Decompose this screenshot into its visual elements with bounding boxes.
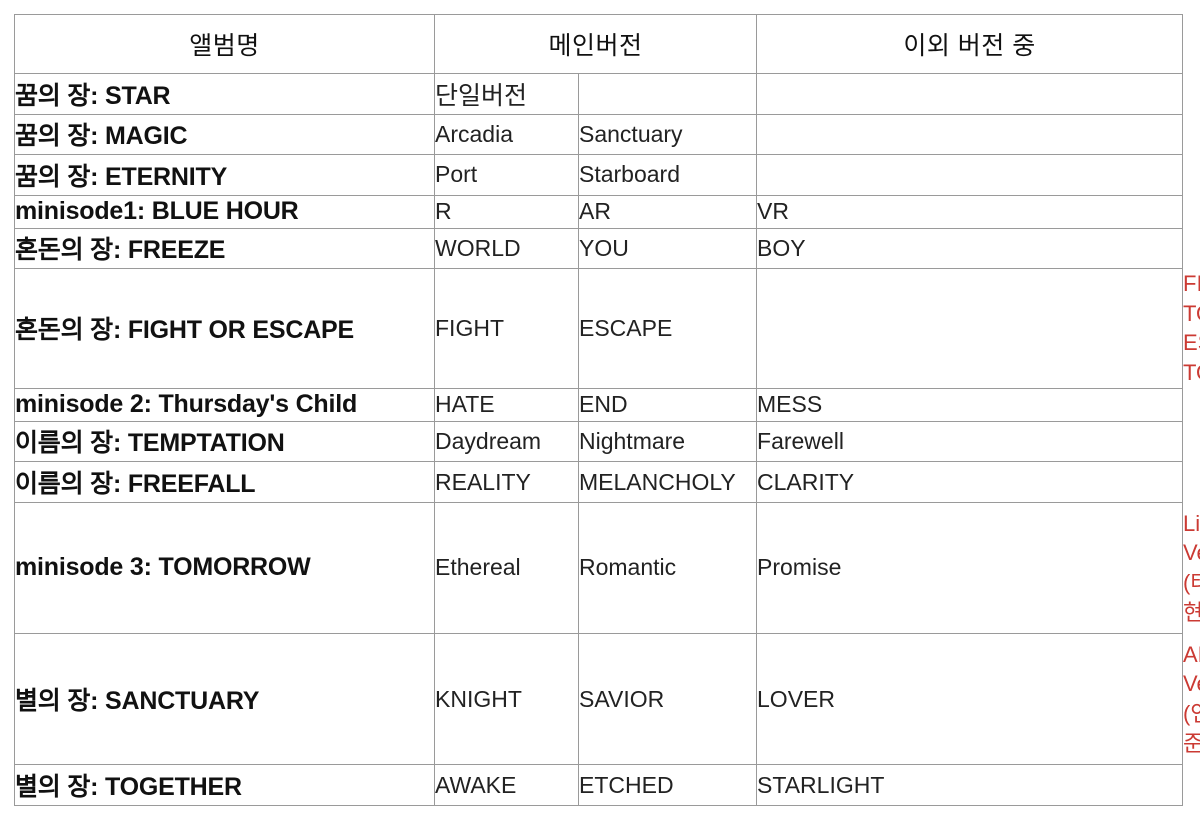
cell-album-name: 이름의 장: FREEFALL xyxy=(15,462,435,503)
cell-main-version-2: END xyxy=(579,388,757,421)
table-body: 꿈의 장: STAR단일버전꿈의 장: MAGICArcadiaSanctuar… xyxy=(15,74,1183,806)
cell-album-name: 이름의 장: TEMPTATION xyxy=(15,421,435,462)
cell-main-version-2 xyxy=(579,74,757,115)
table-row: minisode 2: Thursday's ChildHATEENDMESS xyxy=(15,388,1183,421)
cell-main-version-3 xyxy=(757,269,1183,389)
cell-main-version-2: YOU xyxy=(579,228,757,269)
cell-main-version-3: CLARITY xyxy=(757,462,1183,503)
table-header: 앨범명 메인버전 이외 버전 중 xyxy=(15,15,1183,74)
spreadsheet-container: 앨범명 메인버전 이외 버전 중 꿈의 장: STAR단일버전꿈의 장: MAG… xyxy=(14,14,1182,806)
table-row: minisode 3: TOMORROWEtherealRomanticProm… xyxy=(15,502,1183,633)
table-row: 이름의 장: FREEFALLREALITYMELANCHOLYCLARITY xyxy=(15,462,1183,503)
cell-album-name: 혼돈의 장: FIGHT OR ESCAPE xyxy=(15,269,435,389)
cell-main-version-1: HATE xyxy=(435,388,579,421)
cell-album-name: 꿈의 장: STAR xyxy=(15,74,435,115)
cell-main-version-1: KNIGHT xyxy=(435,634,579,765)
cell-main-version-1: 단일버전 xyxy=(435,74,579,115)
cell-album-name: minisode 3: TOMORROW xyxy=(15,502,435,633)
table-row: 혼돈의 장: FREEZEWORLDYOUBOY xyxy=(15,228,1183,269)
cell-main-version-1: Daydream xyxy=(435,421,579,462)
cell-main-version-3 xyxy=(757,114,1183,155)
column-header-other-versions: 이외 버전 중 xyxy=(757,15,1183,74)
table-row: 혼돈의 장: FIGHT OR ESCAPEFIGHTESCAPEFIGHT: … xyxy=(15,269,1183,389)
cell-album-name: 꿈의 장: ETERNITY xyxy=(15,155,435,196)
cell-main-version-3: BOY xyxy=(757,228,1183,269)
cell-main-version-1: WORLD xyxy=(435,228,579,269)
cell-main-version-1: R xyxy=(435,195,579,228)
cell-main-version-1: REALITY xyxy=(435,462,579,503)
cell-main-version-2: Starboard xyxy=(579,155,757,196)
cell-album-name: 꿈의 장: MAGIC xyxy=(15,114,435,155)
cell-main-version-3: MESS xyxy=(757,388,1183,421)
table-row: 이름의 장: TEMPTATIONDaydreamNightmareFarewe… xyxy=(15,421,1183,462)
table-row: 별의 장: SANCTUARYKNIGHTSAVIORLOVERANGEL Ve… xyxy=(15,634,1183,765)
album-version-table: 앨범명 메인버전 이외 버전 중 꿈의 장: STAR단일버전꿈의 장: MAG… xyxy=(14,14,1183,806)
cell-main-version-3 xyxy=(757,155,1183,196)
cell-album-name: minisode1: BLUE HOUR xyxy=(15,195,435,228)
cell-main-version-2: Nightmare xyxy=(579,421,757,462)
table-row: 꿈의 장: STAR단일버전 xyxy=(15,74,1183,115)
cell-album-name: 별의 장: SANCTUARY xyxy=(15,634,435,765)
table-row: 꿈의 장: ETERNITYPortStarboard xyxy=(15,155,1183,196)
header-row: 앨범명 메인버전 이외 버전 중 xyxy=(15,15,1183,74)
cell-main-version-2: Sanctuary xyxy=(579,114,757,155)
table-row: minisode1: BLUE HOURRARVR xyxy=(15,195,1183,228)
cell-main-version-3: Farewell xyxy=(757,421,1183,462)
cell-main-version-2: AR xyxy=(579,195,757,228)
cell-album-name: minisode 2: Thursday's Child xyxy=(15,388,435,421)
cell-main-version-3: STARLIGHT xyxy=(757,765,1183,806)
column-header-main-version: 메인버전 xyxy=(435,15,757,74)
table-row: 꿈의 장: MAGICArcadiaSanctuary xyxy=(15,114,1183,155)
cell-album-name: 혼돈의 장: FREEZE xyxy=(15,228,435,269)
table-row: 별의 장: TOGETHERAWAKEETCHEDSTARLIGHT xyxy=(15,765,1183,806)
cell-album-name: 별의 장: TOGETHER xyxy=(15,765,435,806)
column-header-album-name: 앨범명 xyxy=(15,15,435,74)
cell-main-version-2: Romantic xyxy=(579,502,757,633)
cell-main-version-3: LOVER xyxy=(757,634,1183,765)
cell-main-version-1: Port xyxy=(435,155,579,196)
cell-main-version-1: AWAKE xyxy=(435,765,579,806)
cell-main-version-1: Ethereal xyxy=(435,502,579,633)
cell-main-version-2: ETCHED xyxy=(579,765,757,806)
cell-main-version-3: Promise xyxy=(757,502,1183,633)
cell-main-version-2: ESCAPE xyxy=(579,269,757,389)
cell-main-version-2: MELANCHOLY xyxy=(579,462,757,503)
cell-main-version-2: SAVIOR xyxy=(579,634,757,765)
cell-main-version-1: Arcadia xyxy=(435,114,579,155)
cell-main-version-3 xyxy=(757,74,1183,115)
cell-main-version-1: FIGHT xyxy=(435,269,579,389)
cell-main-version-3: VR xyxy=(757,195,1183,228)
